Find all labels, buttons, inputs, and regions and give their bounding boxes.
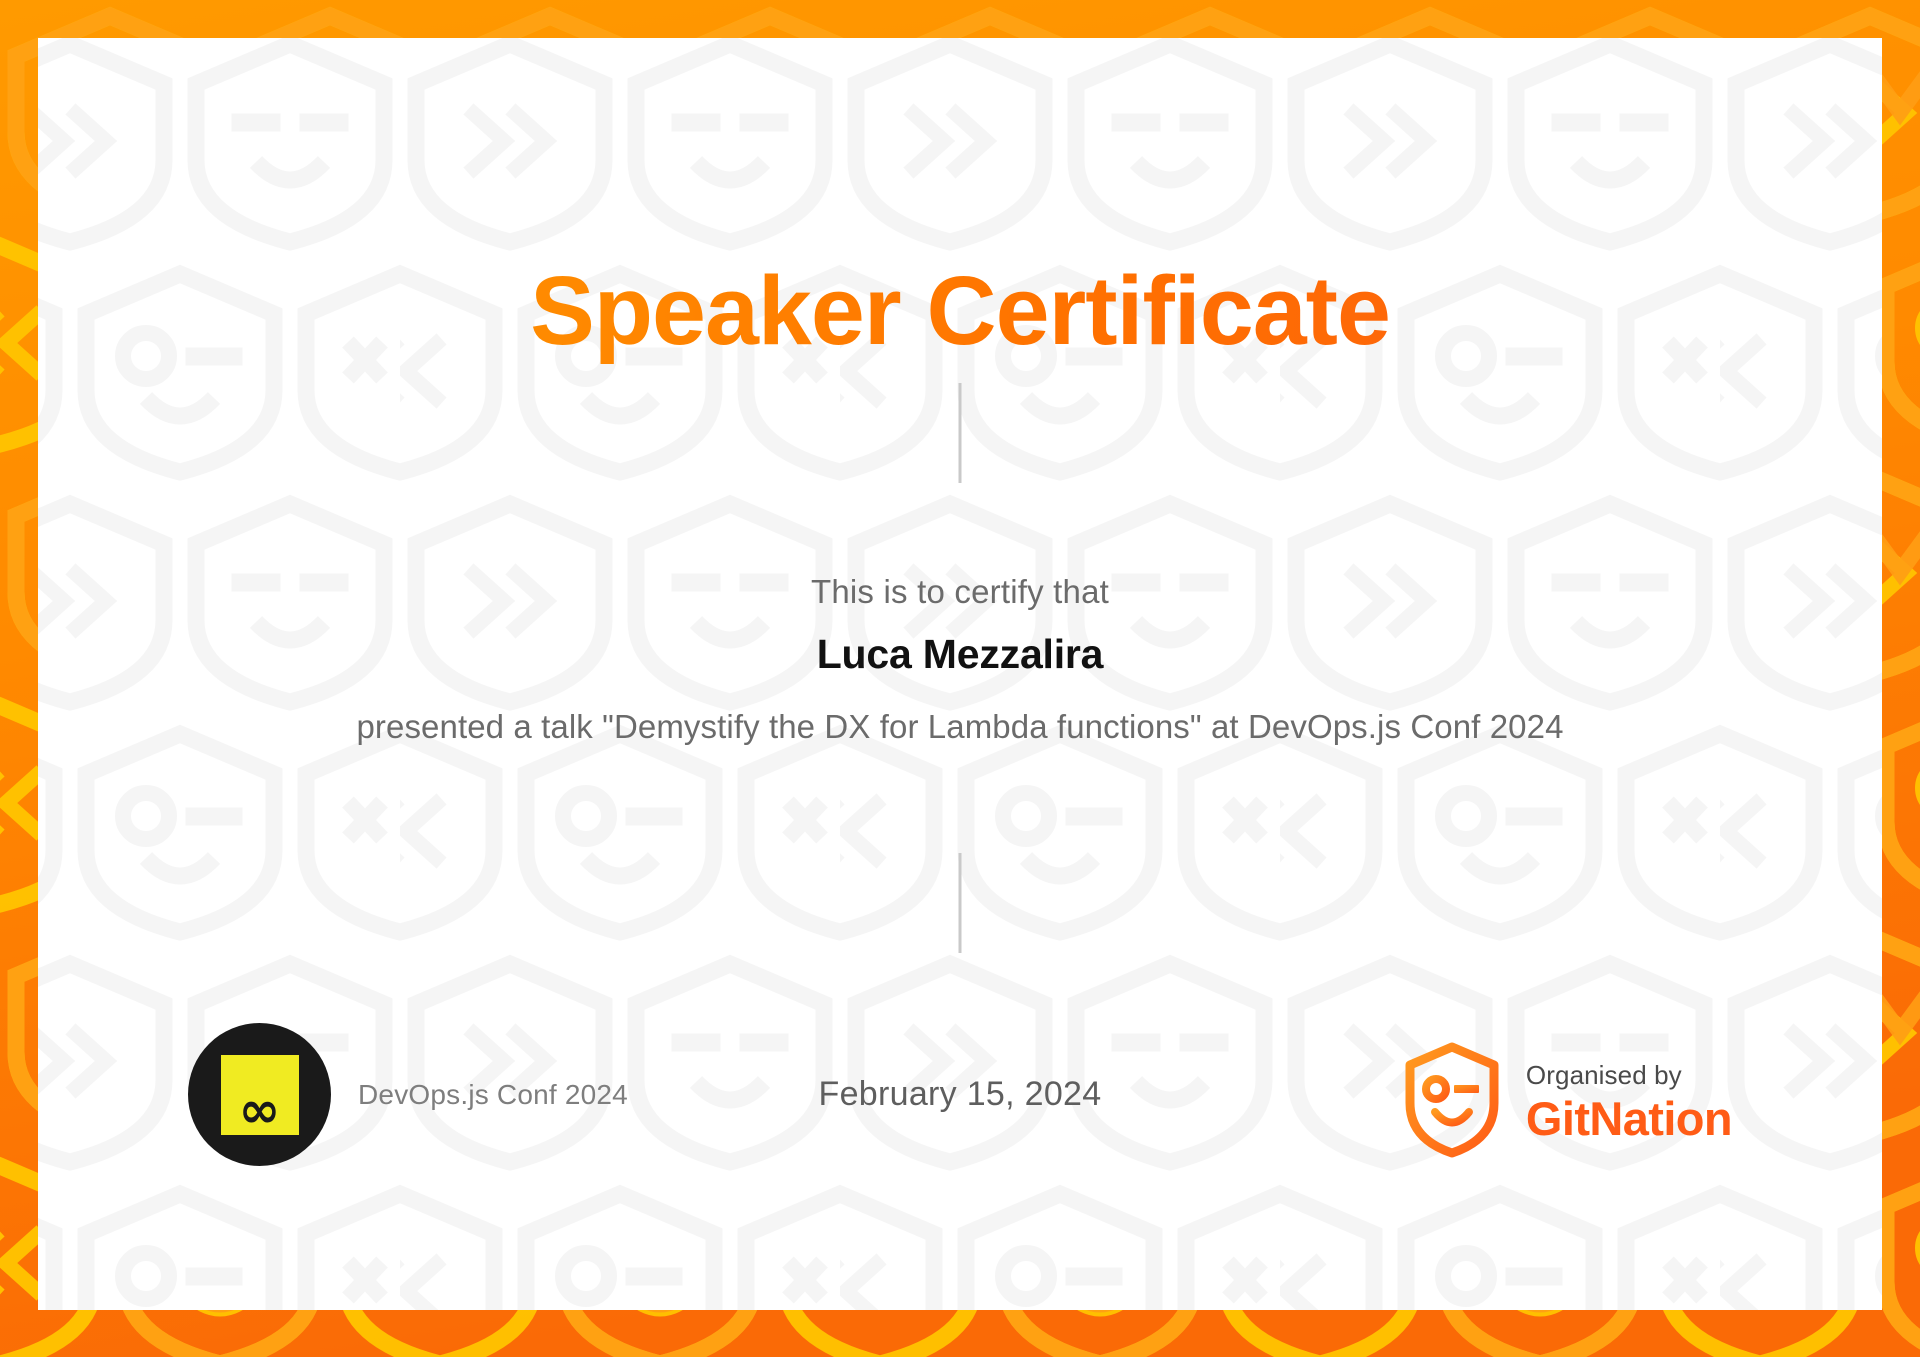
organised-by-label: Organised by — [1526, 1062, 1732, 1089]
organiser-name: GitNation — [1526, 1094, 1732, 1143]
certificate-date: February 15, 2024 — [819, 1075, 1102, 1114]
divider-top — [959, 383, 962, 483]
event-name-label: DevOps.js Conf 2024 — [358, 1079, 628, 1111]
talk-description: presented a talk "Demystify the DX for L… — [38, 708, 1882, 746]
event-branding: ∞ DevOps.js Conf 2024 — [188, 1023, 628, 1166]
divider-bottom — [959, 853, 962, 953]
devopsjs-infinity-logo-icon: ∞ — [188, 1023, 331, 1166]
certificate-title: Speaker Certificate — [38, 258, 1882, 365]
organiser-branding: Organised by GitNation — [1402, 1041, 1732, 1164]
logo-yellow-square: ∞ — [221, 1055, 299, 1135]
certificate-card: Speaker Certificate This is to certify t… — [38, 38, 1882, 1310]
certify-line: This is to certify that — [38, 573, 1882, 611]
speaker-certificate: Speaker Certificate This is to certify t… — [0, 0, 1920, 1357]
infinity-glyph: ∞ — [239, 1092, 281, 1128]
certificate-footer: ∞ DevOps.js Conf 2024 February 15, 2024 — [38, 1023, 1882, 1203]
gitnation-shield-face-logo-icon — [1402, 1041, 1502, 1164]
recipient-name: Luca Mezzalira — [38, 631, 1882, 678]
